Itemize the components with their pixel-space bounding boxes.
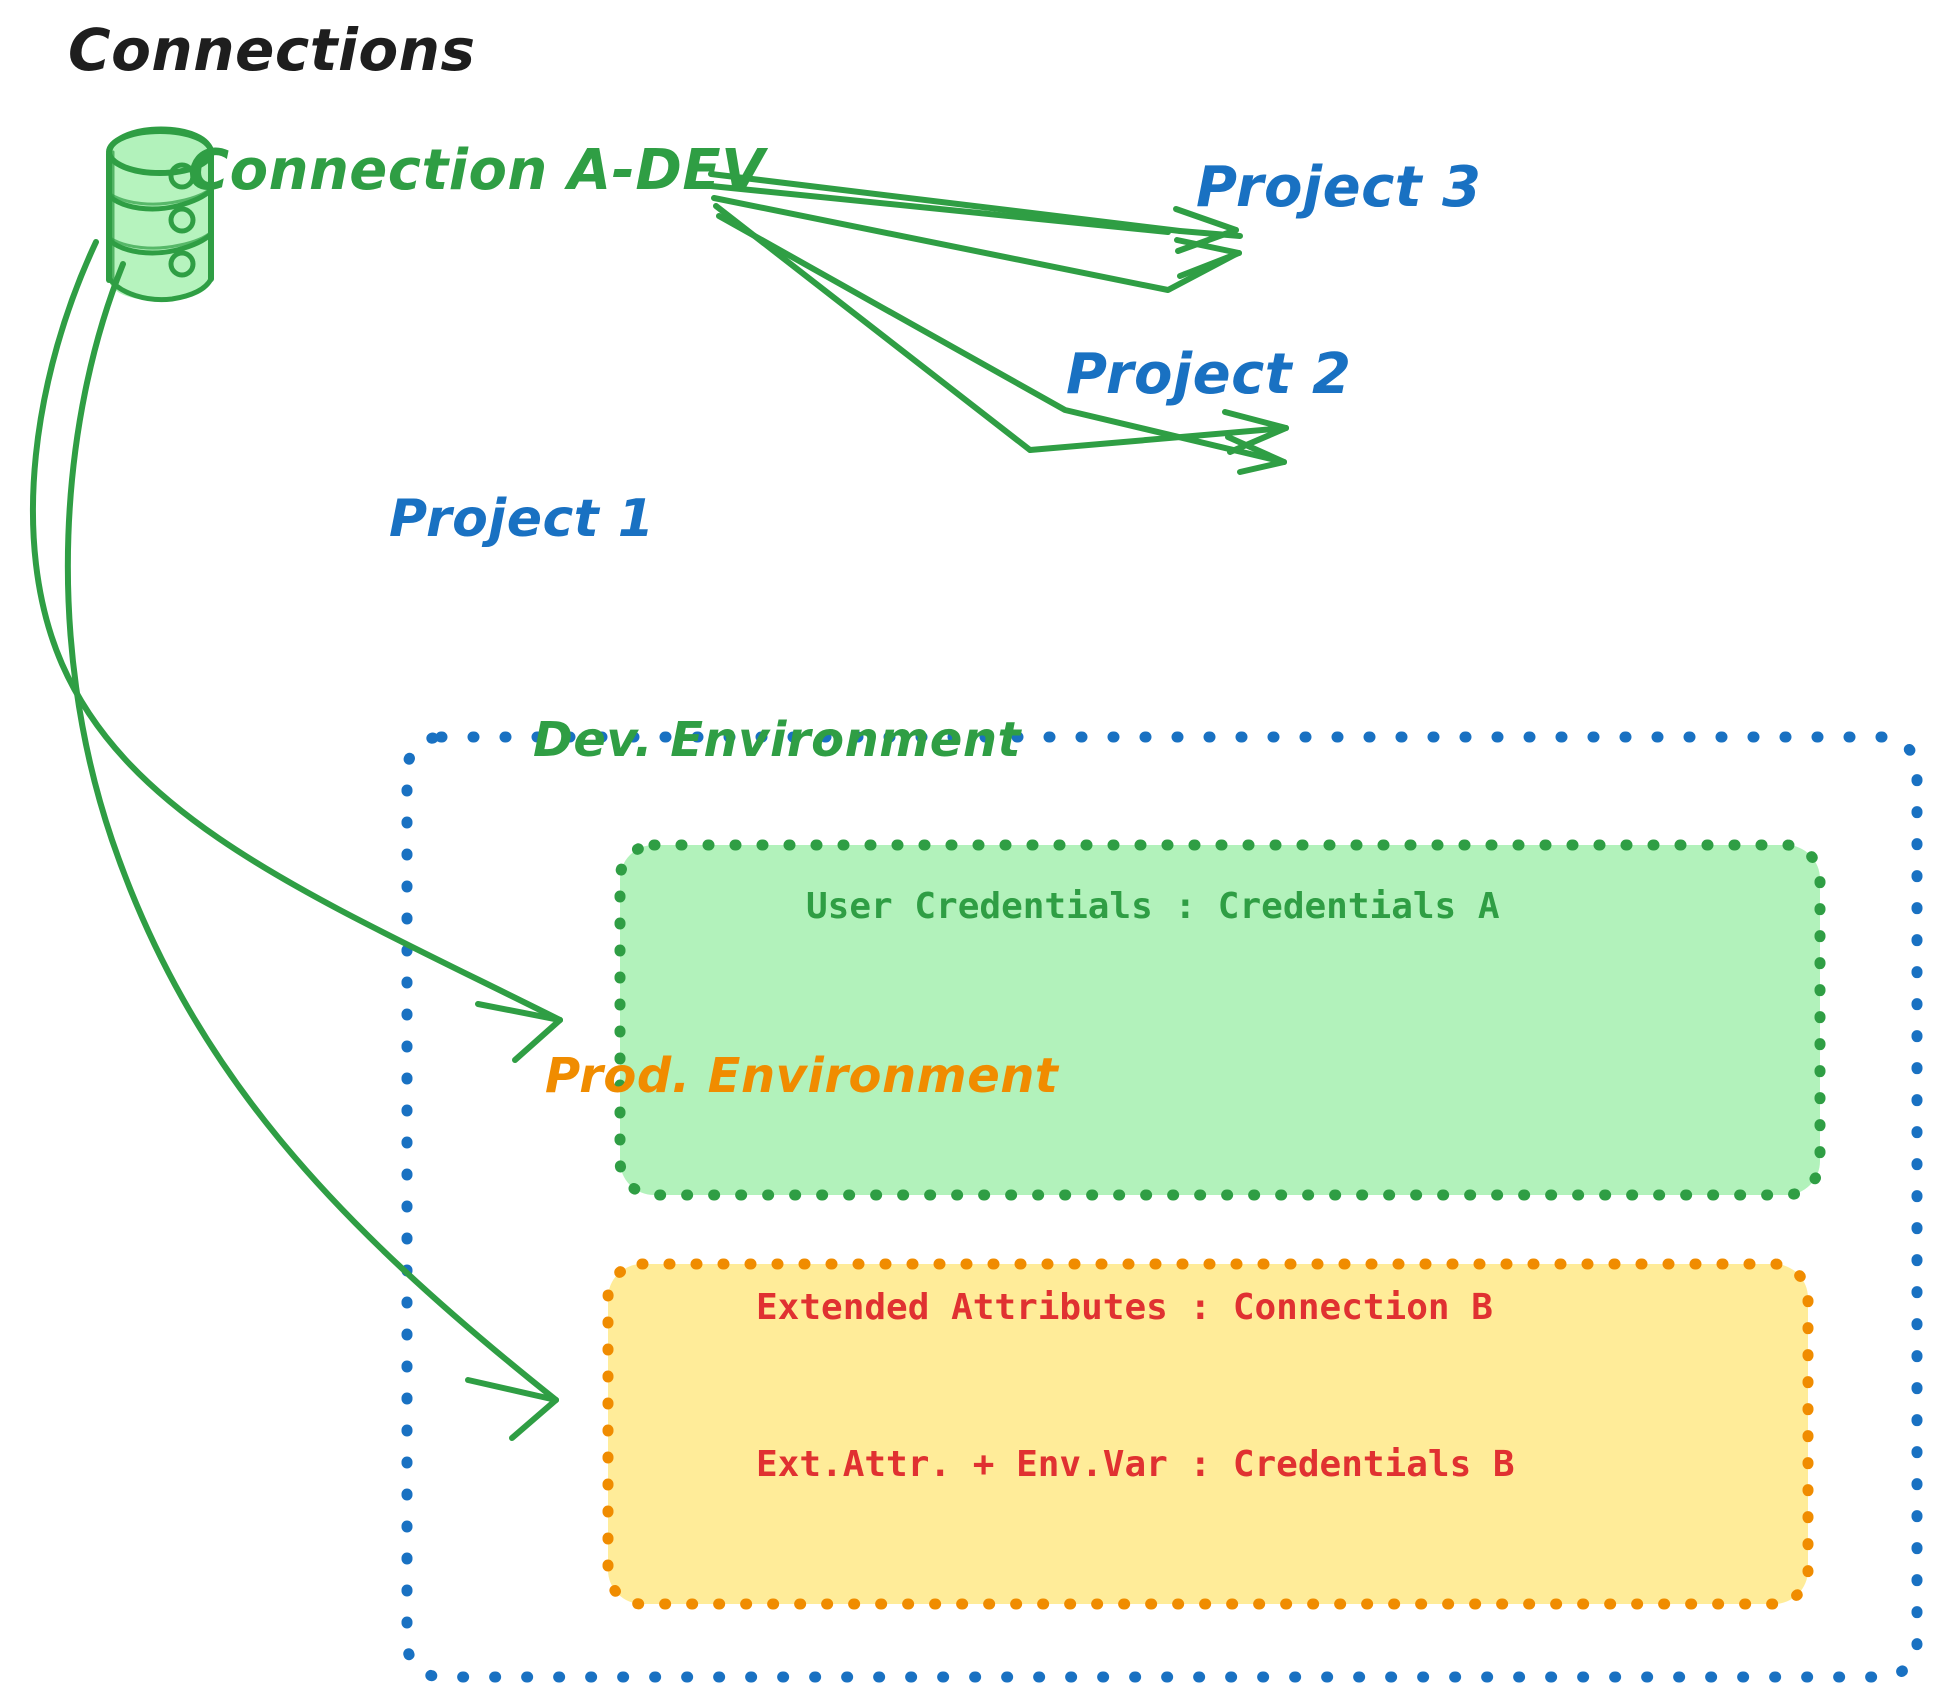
project-3-label[interactable]: Project 3 xyxy=(1196,153,1482,223)
connection-label[interactable]: Connection A-DEV xyxy=(188,136,765,206)
prod-environment-attribute-rows: Extended Attributes : Connection B Ext.A… xyxy=(756,1178,1515,1596)
prod-row-extended-attributes: Extended Attributes : Connection B xyxy=(756,1282,1515,1334)
dev-environment-credentials-row: User Credentials : Credentials A xyxy=(806,884,1500,929)
project-2-label[interactable]: Project 2 xyxy=(1066,340,1352,410)
project-1-label[interactable]: Project 1 xyxy=(389,487,654,552)
arrow-to-prod-environment xyxy=(68,264,556,1438)
page-title: Connections xyxy=(68,14,475,87)
prod-row-ext-attr-env-var: Ext.Attr. + Env.Var : Credentials B xyxy=(756,1439,1515,1491)
prod-environment-title: Prod. Environment xyxy=(545,1046,1058,1106)
arrow-to-project-3 xyxy=(711,174,1240,290)
diagram-canvas: Connections Connection A-DEV Project 3 P… xyxy=(0,0,1938,1691)
arrow-to-dev-environment xyxy=(33,242,560,1060)
dev-environment-title: Dev. Environment xyxy=(533,710,1021,770)
